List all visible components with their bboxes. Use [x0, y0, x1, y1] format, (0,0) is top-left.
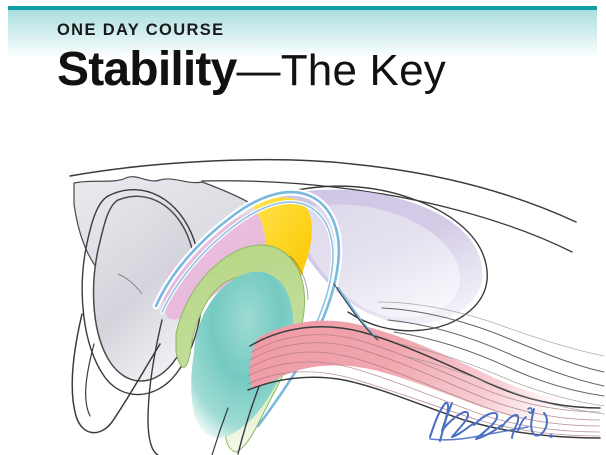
course-eyebrow-label: ONE DAY COURSE	[57, 22, 597, 39]
page-title: Stability—The Key	[57, 46, 597, 94]
slide-canvas: ONE DAY COURSE Stability—The Key	[0, 0, 606, 455]
artist-signature	[422, 395, 558, 447]
page-title-strong: Stability	[57, 43, 237, 96]
page-title-light: —The Key	[237, 46, 446, 95]
artist-signature-svg	[422, 395, 558, 447]
title-block: ONE DAY COURSE Stability—The Key	[57, 22, 597, 94]
